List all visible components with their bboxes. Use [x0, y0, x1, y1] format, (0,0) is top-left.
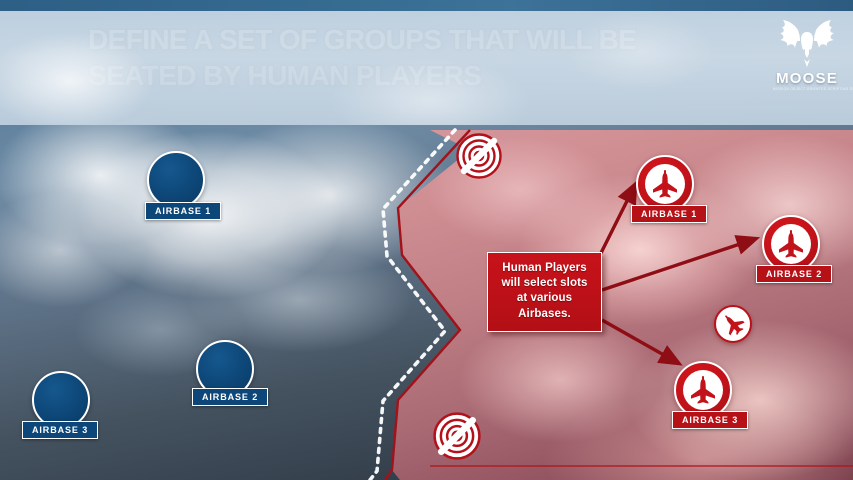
fighter-jet-glyph — [776, 229, 806, 259]
header-band — [0, 11, 853, 125]
callout-human-players: Human Players will select slots at vario… — [487, 252, 602, 332]
radar-target-icon-bottom[interactable] — [432, 411, 482, 466]
red-airbase-label-3: AIRBASE 3 — [672, 411, 748, 429]
blue-airbase-marker-1[interactable]: AIRBASE 1 — [147, 151, 205, 209]
fighter-jet-glyph — [688, 375, 718, 405]
logo-subtitle: MISSION OBJECT ORIENTED SCRIPTING ENVIRO… — [773, 88, 841, 91]
header-cloud-texture — [0, 11, 853, 125]
blue-airbase-marker-3[interactable]: AIRBASE 3 — [32, 371, 90, 429]
radar-target-icon-top[interactable] — [455, 132, 503, 185]
fighter-jet-glyph — [650, 169, 680, 199]
fighter-jet-banking-glyph — [720, 311, 746, 337]
radar-target-glyph — [455, 132, 503, 180]
logo-wordmark: MOOSE — [773, 71, 841, 86]
blue-airbase-label-1: AIRBASE 1 — [145, 202, 221, 220]
red-airbase-marker-3[interactable]: AIRBASE 3 — [674, 361, 732, 419]
callout-line-2: will select slots — [494, 276, 595, 291]
blue-airbase-label-2: AIRBASE 2 — [192, 388, 268, 406]
radar-target-glyph — [432, 411, 482, 461]
callout-line-3: at various — [494, 291, 595, 306]
callout-line-4: Airbases. — [494, 307, 595, 322]
red-airbase-label-1: AIRBASE 1 — [631, 205, 707, 223]
blue-airbase-marker-2[interactable]: AIRBASE 2 — [196, 340, 254, 398]
red-airbase-label-2: AIRBASE 2 — [756, 265, 832, 283]
red-airbase-marker-1[interactable]: AIRBASE 1 — [636, 155, 694, 213]
blue-airbase-label-3: AIRBASE 3 — [22, 421, 98, 439]
callout-line-1: Human Players — [494, 261, 595, 276]
blue-circle-icon — [147, 151, 205, 209]
moose-logo: MOOSE MISSION OBJECT ORIENTED SCRIPTING … — [773, 18, 841, 106]
fighter-jet-banking-icon[interactable] — [714, 305, 752, 343]
top-accent-strip — [0, 0, 853, 11]
slide: Define a set of groups that will be seat… — [0, 0, 853, 480]
red-airbase-marker-2[interactable]: AIRBASE 2 — [762, 215, 820, 273]
moose-antlers-icon — [776, 18, 838, 70]
